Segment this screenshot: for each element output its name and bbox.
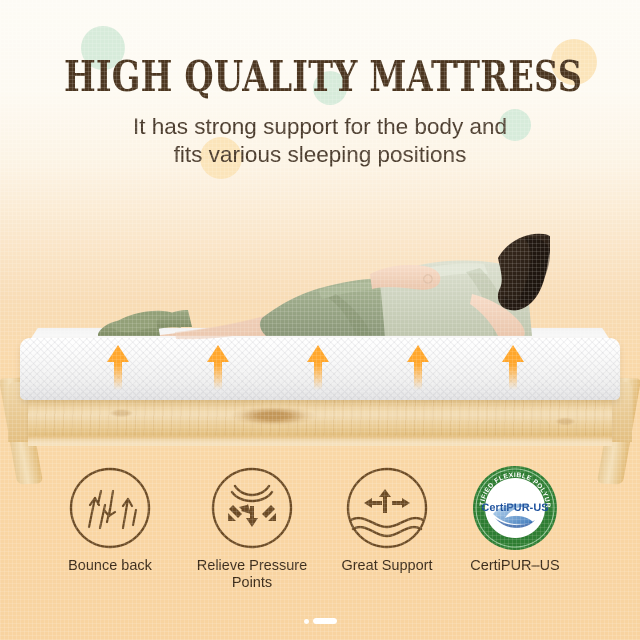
feature-label-line-1: Relieve Pressure bbox=[197, 558, 307, 574]
page-title: HIGH QUALITY MATTRESS bbox=[64, 56, 576, 98]
feature-certipur-us[interactable]: CONTAINS CERTIFIED FLEXIBLE POLYURETHANE… bbox=[435, 462, 595, 575]
support-arrow-2 bbox=[206, 344, 230, 390]
subtitle-line-1: It has strong support for the body and bbox=[0, 113, 640, 141]
certipur-brand-text: CertiPUR-US bbox=[481, 502, 548, 514]
slide-active-pill[interactable] bbox=[313, 618, 337, 624]
header: HIGH QUALITY MATTRESS It has strong supp… bbox=[0, 0, 640, 169]
support-arrow-5 bbox=[501, 344, 525, 390]
feature-bounce-back[interactable]: Bounce back bbox=[30, 462, 190, 575]
support-arrows-icon bbox=[344, 465, 430, 551]
product-infographic: HIGH QUALITY MATTRESS It has strong supp… bbox=[0, 0, 640, 640]
feature-label-line-2: Points bbox=[232, 575, 272, 591]
feature-row: Bounce back bbox=[0, 462, 640, 602]
bounce-arrows-icon bbox=[67, 465, 153, 551]
support-arrow-1 bbox=[106, 344, 130, 390]
subtitle-line-2: fits various sleeping positions bbox=[0, 141, 640, 169]
support-arrow-3 bbox=[306, 344, 330, 390]
certipur-icon-wrap: CONTAINS CERTIFIED FLEXIBLE POLYURETHANE… bbox=[435, 462, 595, 554]
pressure-arrows-icon bbox=[209, 465, 295, 551]
bed-frame-lip bbox=[28, 436, 612, 446]
bounce-back-icon-wrap bbox=[30, 462, 190, 554]
page-subtitle: It has strong support for the body and f… bbox=[0, 113, 640, 169]
slide-indicator[interactable] bbox=[0, 618, 640, 624]
bed-scene bbox=[0, 232, 640, 462]
slide-dot[interactable] bbox=[304, 619, 309, 624]
feature-label: Bounce back bbox=[30, 558, 190, 575]
sleeping-person-illustration bbox=[80, 232, 550, 344]
support-arrow-4 bbox=[406, 344, 430, 390]
feature-label: CertiPUR–US bbox=[435, 558, 595, 575]
certipur-badge-icon: CONTAINS CERTIFIED FLEXIBLE POLYURETHANE… bbox=[471, 464, 559, 552]
